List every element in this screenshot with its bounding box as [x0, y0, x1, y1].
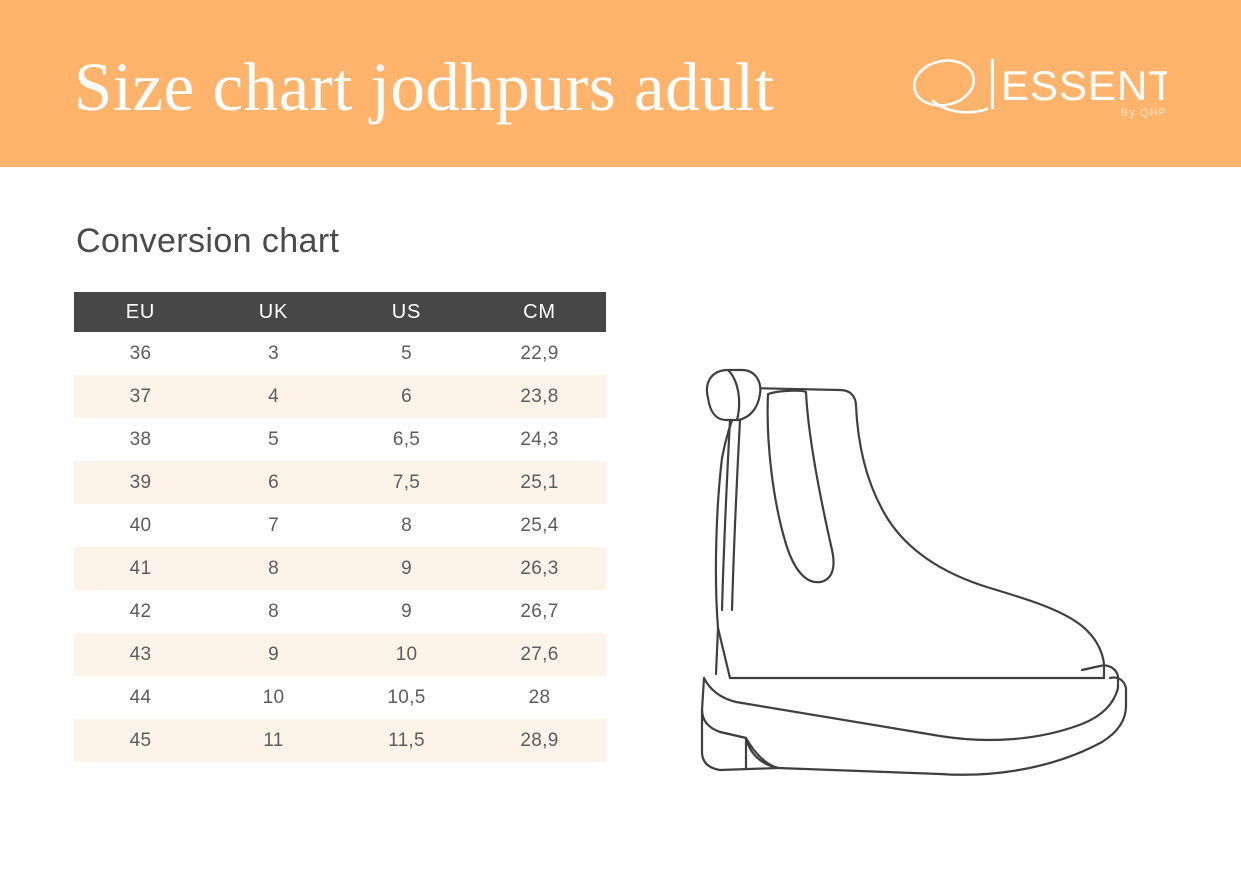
- cell-us: 6: [340, 375, 473, 418]
- table-row: 45 11 11,5 28,9: [74, 719, 606, 762]
- svg-text:ESSENTIALS: ESSENTIALS: [1001, 62, 1167, 109]
- cell-cm: 25,4: [473, 504, 606, 547]
- cell-uk: 11: [207, 719, 340, 762]
- cell-eu: 45: [74, 719, 207, 762]
- cell-cm: 24,3: [473, 418, 606, 461]
- cell-cm: 28,9: [473, 719, 606, 762]
- column-header-uk: UK: [207, 292, 340, 332]
- column-header-eu: EU: [74, 292, 207, 332]
- cell-uk: 3: [207, 332, 340, 375]
- table-row: 42 8 9 26,7: [74, 590, 606, 633]
- conversion-table-wrapper: EU UK US CM 36 3 5 22,9 37 4 6 23,8: [74, 292, 606, 762]
- cell-us: 10,5: [340, 676, 473, 719]
- cell-eu: 42: [74, 590, 207, 633]
- page-title: Size chart jodhpurs adult: [74, 46, 774, 128]
- cell-us: 7,5: [340, 461, 473, 504]
- cell-cm: 26,3: [473, 547, 606, 590]
- cell-cm: 26,7: [473, 590, 606, 633]
- cell-eu: 44: [74, 676, 207, 719]
- cell-us: 8: [340, 504, 473, 547]
- cell-us: 5: [340, 332, 473, 375]
- cell-us: 10: [340, 633, 473, 676]
- cell-cm: 27,6: [473, 633, 606, 676]
- table-header: EU UK US CM: [74, 292, 606, 332]
- column-header-us: US: [340, 292, 473, 332]
- cell-eu: 38: [74, 418, 207, 461]
- table-row: 43 9 10 27,6: [74, 633, 606, 676]
- cell-uk: 6: [207, 461, 340, 504]
- table-row: 41 8 9 26,3: [74, 547, 606, 590]
- cell-eu: 43: [74, 633, 207, 676]
- cell-eu: 40: [74, 504, 207, 547]
- section-heading: Conversion chart: [76, 219, 339, 263]
- table-row: 38 5 6,5 24,3: [74, 418, 606, 461]
- cell-us: 6,5: [340, 418, 473, 461]
- brand-logo: ESSENTIALS By QHP: [907, 57, 1167, 129]
- cell-us: 9: [340, 547, 473, 590]
- cell-uk: 4: [207, 375, 340, 418]
- cell-uk: 10: [207, 676, 340, 719]
- cell-cm: 25,1: [473, 461, 606, 504]
- table-row: 37 4 6 23,8: [74, 375, 606, 418]
- cell-uk: 5: [207, 418, 340, 461]
- conversion-table: EU UK US CM 36 3 5 22,9 37 4 6 23,8: [74, 292, 606, 762]
- cell-uk: 7: [207, 504, 340, 547]
- cell-us: 11,5: [340, 719, 473, 762]
- table-row: 39 6 7,5 25,1: [74, 461, 606, 504]
- table-header-row: EU UK US CM: [74, 292, 606, 332]
- table-row: 36 3 5 22,9: [74, 332, 606, 375]
- header-band: Size chart jodhpurs adult ESSENTIALS By …: [0, 0, 1241, 167]
- cell-uk: 8: [207, 590, 340, 633]
- table-row: 44 10 10,5 28: [74, 676, 606, 719]
- cell-eu: 39: [74, 461, 207, 504]
- cell-cm: 28: [473, 676, 606, 719]
- cell-uk: 9: [207, 633, 340, 676]
- table-body: 36 3 5 22,9 37 4 6 23,8 38 5 6,5 24,3: [74, 332, 606, 762]
- size-chart-page: Size chart jodhpurs adult ESSENTIALS By …: [0, 0, 1241, 886]
- cell-cm: 23,8: [473, 375, 606, 418]
- cell-eu: 36: [74, 332, 207, 375]
- cell-eu: 41: [74, 547, 207, 590]
- jodhpur-boot-illustration: [690, 338, 1160, 778]
- column-header-cm: CM: [473, 292, 606, 332]
- cell-us: 9: [340, 590, 473, 633]
- logo-tagline: By QHP: [1121, 107, 1167, 119]
- cell-cm: 22,9: [473, 332, 606, 375]
- cell-eu: 37: [74, 375, 207, 418]
- cell-uk: 8: [207, 547, 340, 590]
- table-row: 40 7 8 25,4: [74, 504, 606, 547]
